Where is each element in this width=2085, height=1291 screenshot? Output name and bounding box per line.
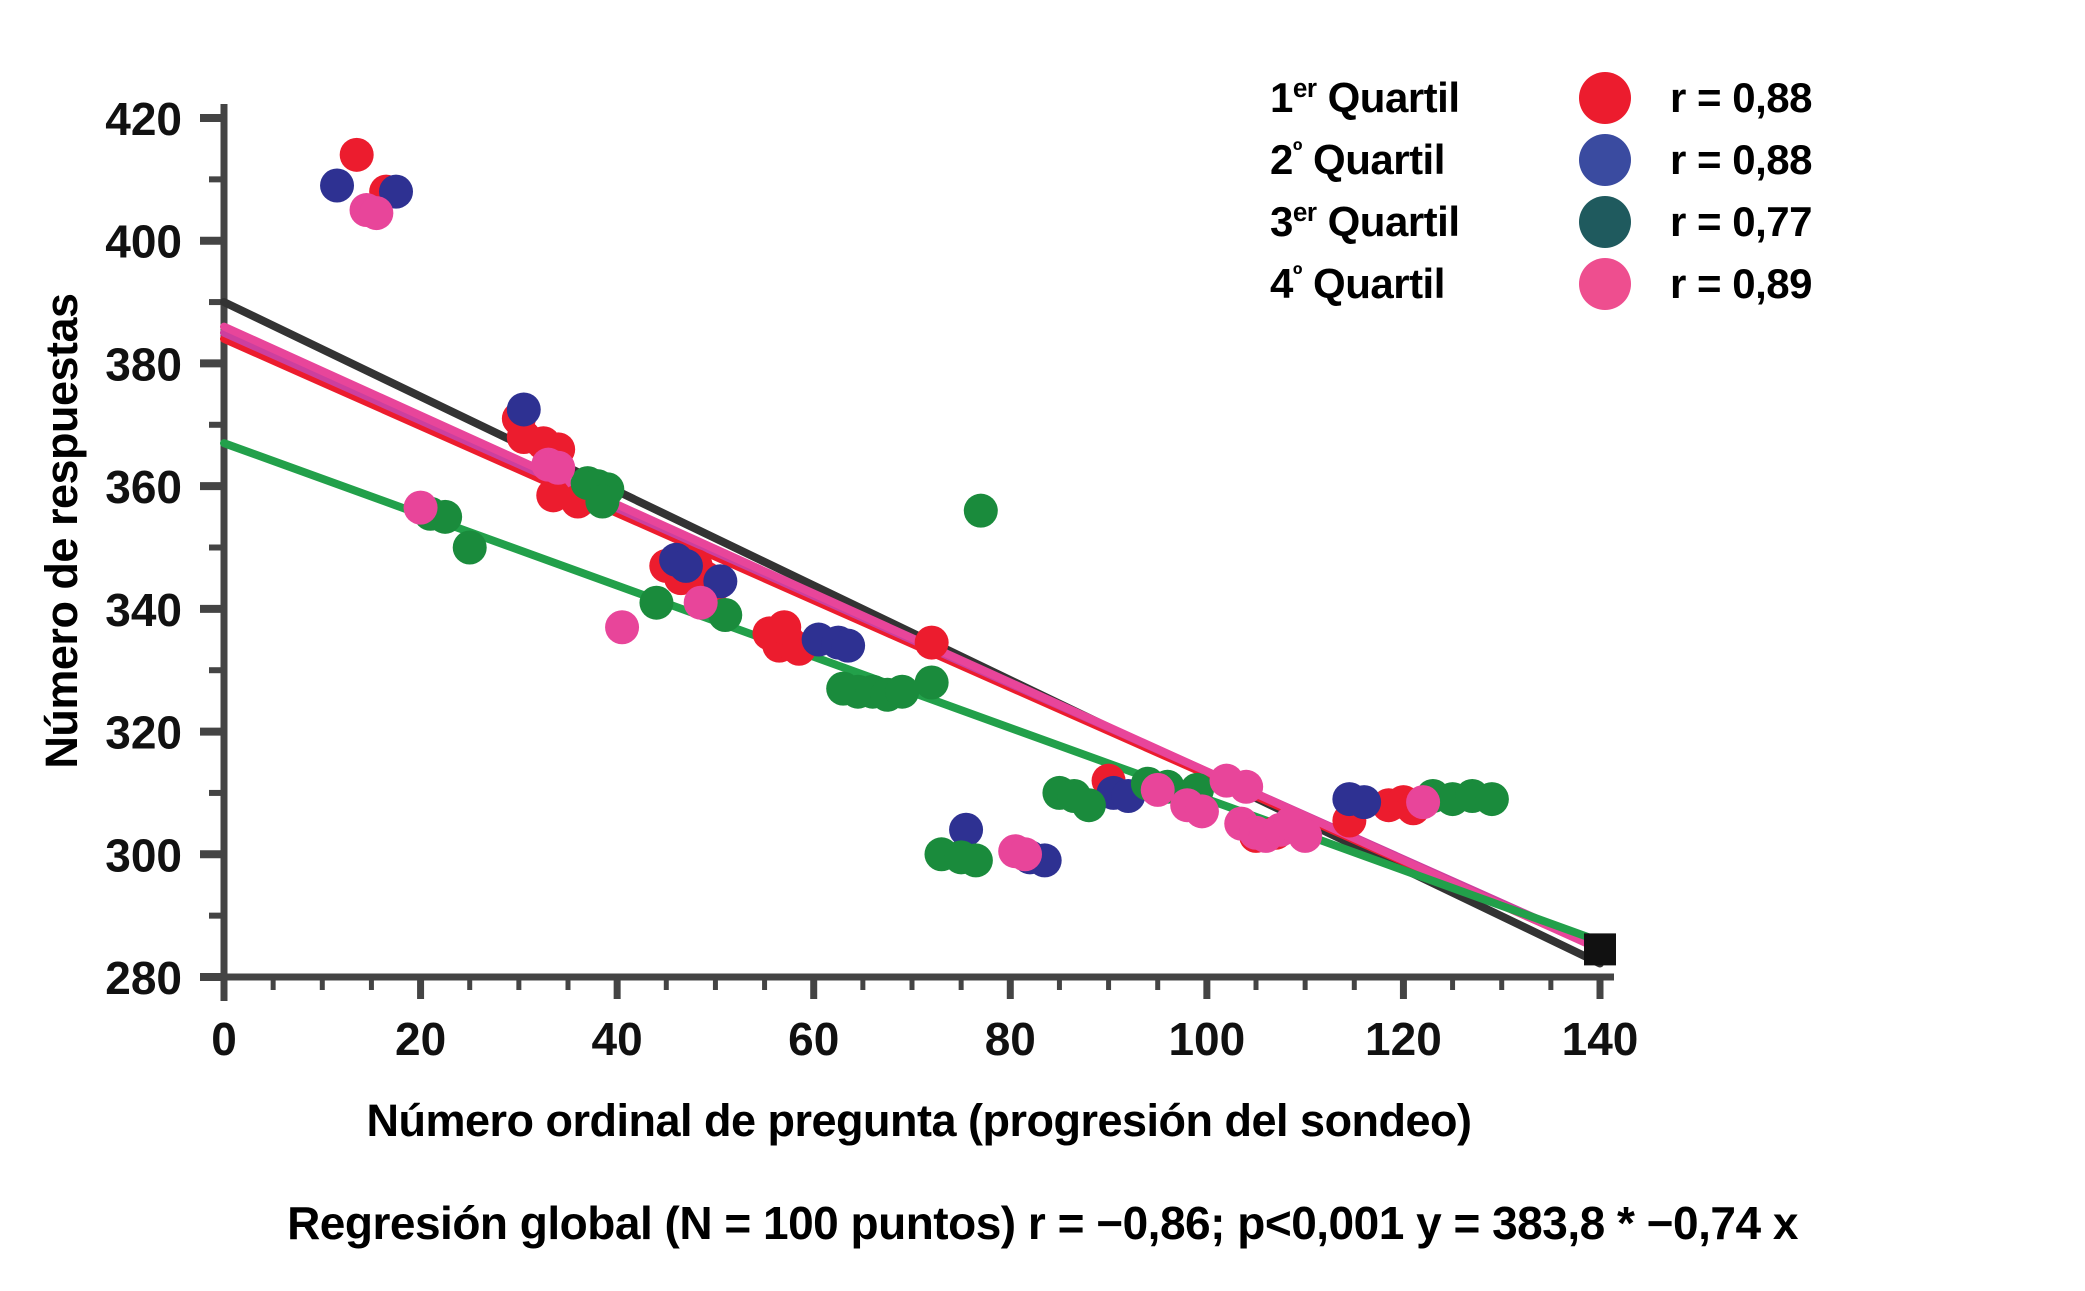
legend-label-number: 2 <box>1270 136 1293 183</box>
x-tick-label: 100 <box>1168 1013 1245 1065</box>
x-tick-label: 140 <box>1562 1013 1639 1065</box>
data-point <box>320 168 354 202</box>
x-tick-label: 0 <box>211 1013 237 1065</box>
data-point <box>605 610 639 644</box>
legend-swatch-cell <box>1540 72 1670 124</box>
legend-label-quartile-4: 4º Quartil <box>1270 260 1540 308</box>
data-point <box>684 586 718 620</box>
legend-correlation-value-1: r = 0,88 <box>1670 74 1812 122</box>
data-point <box>359 196 393 230</box>
legend-label-ordinal-suffix: º <box>1293 259 1302 289</box>
figure-caption: Regresión global (N = 100 puntos) r = −0… <box>0 1196 2085 1250</box>
legend-row-3: 3er Quartilr = 0,77 <box>1270 192 1950 252</box>
data-point <box>1008 837 1042 871</box>
chart-legend: 1er Quartilr = 0,882º Quartilr = 0,883er… <box>1270 68 1950 316</box>
data-point <box>1406 785 1440 819</box>
legend-label-text: Quartil <box>1302 136 1445 183</box>
legend-label-quartile-3: 3er Quartil <box>1270 198 1540 246</box>
legend-label-ordinal-suffix: º <box>1293 135 1302 165</box>
x-tick-label: 80 <box>985 1013 1036 1065</box>
legend-dot-quartile-2 <box>1579 134 1631 186</box>
data-point <box>1072 788 1106 822</box>
legend-label-number: 4 <box>1270 260 1293 307</box>
data-point <box>767 610 801 644</box>
legend-row-2: 2º Quartilr = 0,88 <box>1270 130 1950 190</box>
regression-line <box>224 327 1600 950</box>
legend-label-text: Quartil <box>1302 260 1445 307</box>
legend-label-quartile-1: 1er Quartil <box>1270 74 1540 122</box>
legend-row-1: 1er Quartilr = 0,88 <box>1270 68 1950 128</box>
x-tick-label: 60 <box>788 1013 839 1065</box>
legend-label-text: Quartil <box>1316 198 1459 245</box>
legend-label-text: Quartil <box>1316 74 1459 121</box>
y-tick-label: 400 <box>105 216 182 268</box>
legend-label-quartile-2: 2º Quartil <box>1270 136 1540 184</box>
data-point <box>831 629 865 663</box>
legend-label-number: 1 <box>1270 74 1293 121</box>
data-point <box>1229 770 1263 804</box>
data-point <box>915 665 949 699</box>
data-point <box>404 491 438 525</box>
x-axis-title: Número ordinal de pregunta (progresión d… <box>224 1095 1614 1147</box>
data-point <box>340 138 374 172</box>
y-tick-label: 320 <box>105 707 182 759</box>
legend-correlation-value-3: r = 0,77 <box>1670 198 1812 246</box>
legend-dot-quartile-3 <box>1579 196 1631 248</box>
x-tick-label: 120 <box>1365 1013 1442 1065</box>
y-tick-label: 360 <box>105 461 182 513</box>
regression-lines-layer <box>224 302 1600 963</box>
global-endpoint <box>1584 933 1616 965</box>
data-point <box>915 626 949 660</box>
y-tick-label: 340 <box>105 584 182 636</box>
data-point <box>507 392 541 426</box>
data-point <box>959 843 993 877</box>
data-point <box>541 451 575 485</box>
y-tick-label: 420 <box>105 93 182 145</box>
legend-swatch-cell <box>1540 196 1670 248</box>
data-point <box>669 549 703 583</box>
y-tick-label: 280 <box>105 952 182 1004</box>
x-tick-label: 20 <box>395 1013 446 1065</box>
data-point <box>1475 782 1509 816</box>
endpoint-marker-layer <box>1584 933 1616 965</box>
y-tick-label: 380 <box>105 338 182 390</box>
legend-dot-quartile-1 <box>1579 72 1631 124</box>
data-point <box>964 494 998 528</box>
data-point <box>453 531 487 565</box>
scatter-chart-figure: 0204060801001201402803003203403603804004… <box>0 0 2085 1291</box>
data-point <box>1347 785 1381 819</box>
legend-correlation-value-2: r = 0,88 <box>1670 136 1812 184</box>
legend-row-4: 4º Quartilr = 0,89 <box>1270 254 1950 314</box>
data-point <box>885 675 919 709</box>
legend-dot-quartile-4 <box>1579 258 1631 310</box>
y-tick-label: 300 <box>105 829 182 881</box>
data-point <box>1185 794 1219 828</box>
legend-label-ordinal-suffix: er <box>1293 73 1317 103</box>
data-point <box>1141 773 1175 807</box>
x-tick-label: 40 <box>592 1013 643 1065</box>
legend-swatch-cell <box>1540 134 1670 186</box>
y-axis-title: Número de respuestas <box>36 211 88 851</box>
legend-correlation-value-4: r = 0,89 <box>1670 260 1812 308</box>
legend-swatch-cell <box>1540 258 1670 310</box>
data-point <box>1288 819 1322 853</box>
series-1er-quartil <box>340 138 1431 853</box>
figure-root: 0204060801001201402803003203403603804004… <box>0 0 2085 1291</box>
legend-label-ordinal-suffix: er <box>1293 197 1317 227</box>
legend-label-number: 3 <box>1270 198 1293 245</box>
data-point <box>639 586 673 620</box>
data-point <box>585 484 619 518</box>
